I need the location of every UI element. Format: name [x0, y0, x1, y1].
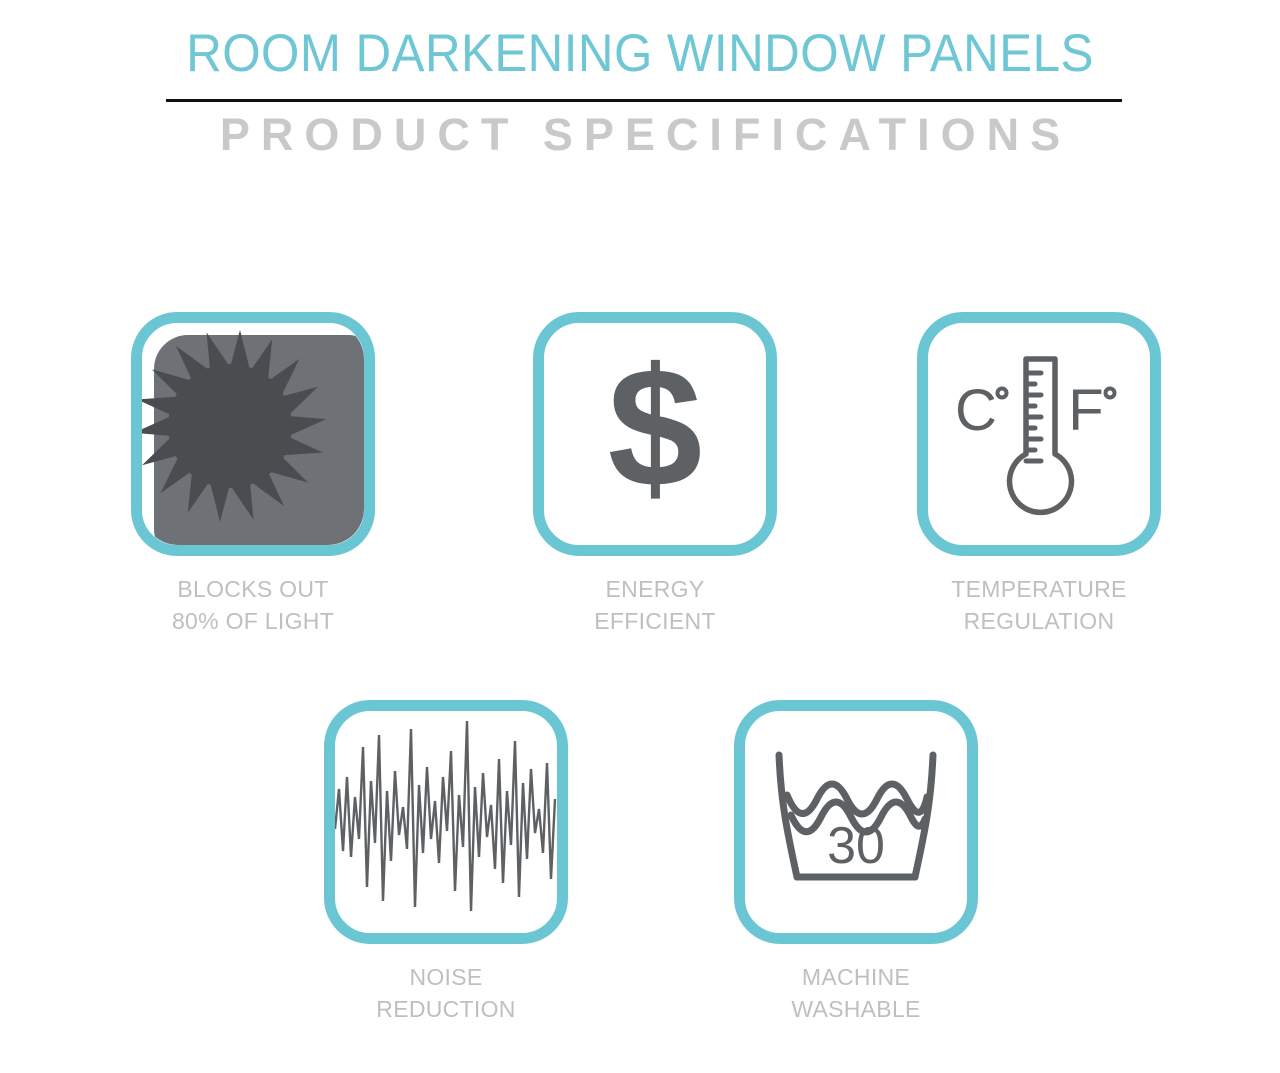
caption-line-2: REGULATION: [905, 605, 1173, 637]
sound-waveform-icon: [335, 711, 557, 933]
feature-caption-energy-efficient: ENERGY EFFICIENT: [521, 573, 789, 637]
dollar-glyph: $: [608, 333, 703, 523]
wash-tub-icon-svg: 30: [745, 711, 967, 933]
feature-caption-blocks-light: BLOCKS OUT 80% OF LIGHT: [119, 573, 387, 637]
feature-machine-washable[interactable]: 30 MACHINE WASHABLE: [722, 700, 990, 1025]
feature-card-noise-reduction[interactable]: [324, 700, 568, 944]
feature-caption-noise-reduction: NOISE REDUCTION: [312, 961, 580, 1025]
feature-card-machine-washable[interactable]: 30: [734, 700, 978, 944]
waveform-path: [335, 721, 555, 911]
feature-card-temperature-regulation[interactable]: C F: [917, 312, 1161, 556]
dollar-sign-icon-svg: $: [544, 323, 766, 545]
caption-line-2: REDUCTION: [312, 993, 580, 1025]
feature-noise-reduction[interactable]: NOISE REDUCTION: [312, 700, 580, 1025]
feature-grid: BLOCKS OUT 80% OF LIGHT $ ENERGY EFFICIE…: [0, 0, 1280, 1073]
caption-line-2: WASHABLE: [722, 993, 990, 1025]
fahrenheit-letter: F: [1068, 378, 1103, 443]
feature-blocks-light[interactable]: BLOCKS OUT 80% OF LIGHT: [119, 312, 387, 637]
caption-line-2: EFFICIENT: [521, 605, 789, 637]
caption-line-2: 80% OF LIGHT: [119, 605, 387, 637]
feature-card-energy-efficient[interactable]: $: [533, 312, 777, 556]
dollar-sign-icon: $: [544, 323, 766, 545]
thermometer-icon-svg: C F: [928, 323, 1150, 545]
caption-line-1: BLOCKS OUT: [119, 573, 387, 605]
sun-blocked-icon-svg: [142, 323, 364, 545]
caption-line-1: ENERGY: [521, 573, 789, 605]
feature-caption-temperature-regulation: TEMPERATURE REGULATION: [905, 573, 1173, 637]
sound-waveform-icon-svg: [335, 711, 557, 933]
feature-caption-machine-washable: MACHINE WASHABLE: [722, 961, 990, 1025]
feature-energy-efficient[interactable]: $ ENERGY EFFICIENT: [521, 312, 789, 637]
caption-line-1: NOISE: [312, 961, 580, 993]
caption-line-1: TEMPERATURE: [905, 573, 1173, 605]
feature-card-blocks-light[interactable]: [131, 312, 375, 556]
thermometer-icon: C F: [928, 323, 1150, 545]
wash-tub-icon: 30: [745, 711, 967, 933]
caption-line-1: MACHINE: [722, 961, 990, 993]
wash-temperature-value: 30: [827, 817, 885, 875]
feature-temperature-regulation[interactable]: C F TEMPERATURE REGULATION: [905, 312, 1173, 637]
celsius-letter: C: [955, 378, 997, 443]
sun-blocked-icon: [142, 323, 364, 545]
